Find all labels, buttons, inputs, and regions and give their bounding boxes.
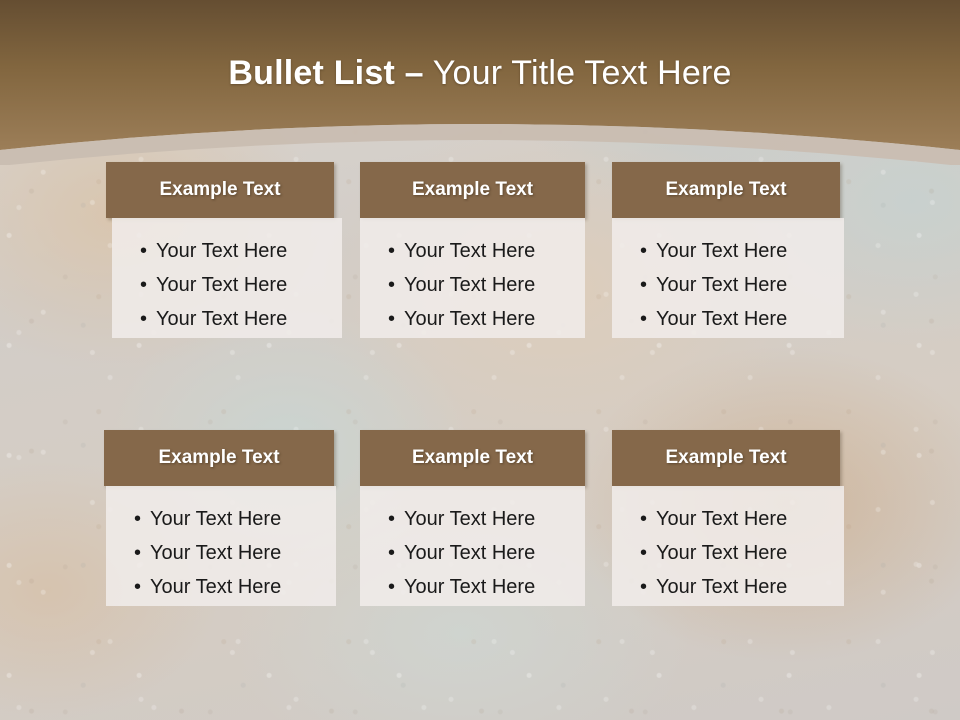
card-header-title: Example Text — [159, 179, 280, 201]
bullet-dot-icon: • — [640, 268, 656, 302]
bullet-dot-icon: • — [134, 502, 150, 536]
card-header-bar[interactable]: Example Text — [612, 162, 840, 218]
bullet-dot-icon: • — [388, 536, 404, 570]
bullet-text: Your Text Here — [404, 302, 535, 336]
bullet-dot-icon: • — [388, 570, 404, 604]
list-item: • Your Text Here — [106, 536, 336, 570]
bullet-text: Your Text Here — [656, 268, 787, 302]
list-item: • Your Text Here — [612, 502, 844, 536]
card-grid: Example Text • Your Text Here • Your Tex… — [0, 0, 960, 720]
bullet-text: Your Text Here — [656, 536, 787, 570]
bullet-dot-icon: • — [140, 302, 156, 336]
card-header-title: Example Text — [412, 447, 533, 469]
card-header-bar[interactable]: Example Text — [360, 430, 585, 486]
card-body: • Your Text Here • Your Text Here • Your… — [612, 486, 844, 606]
bullet-text: Your Text Here — [404, 268, 535, 302]
card-body: • Your Text Here • Your Text Here • Your… — [112, 218, 342, 338]
card-header-bar[interactable]: Example Text — [104, 430, 334, 486]
bullet-dot-icon: • — [388, 268, 404, 302]
presentation-slide: Bullet List – Your Title Text Here Examp… — [0, 0, 960, 720]
bullet-text: Your Text Here — [656, 234, 787, 268]
bullet-text: Your Text Here — [156, 268, 287, 302]
card-header-title: Example Text — [665, 179, 786, 201]
bullet-text: Your Text Here — [656, 502, 787, 536]
slide-title-regular: Your Title Text Here — [424, 54, 732, 92]
list-item: • Your Text Here — [106, 502, 336, 536]
list-item: • Your Text Here — [106, 570, 336, 604]
bullet-dot-icon: • — [640, 234, 656, 268]
list-item: • Your Text Here — [612, 268, 844, 302]
card-header-bar[interactable]: Example Text — [612, 430, 840, 486]
card-body: • Your Text Here • Your Text Here • Your… — [612, 218, 844, 338]
bullet-text: Your Text Here — [156, 234, 287, 268]
bullet-dot-icon: • — [640, 570, 656, 604]
bullet-dot-icon: • — [134, 570, 150, 604]
list-item: • Your Text Here — [112, 302, 342, 336]
list-item: • Your Text Here — [360, 536, 585, 570]
bullet-text: Your Text Here — [150, 536, 281, 570]
card-body: • Your Text Here • Your Text Here • Your… — [106, 486, 336, 606]
bullet-text: Your Text Here — [404, 234, 535, 268]
bullet-dot-icon: • — [388, 302, 404, 336]
card-header-title: Example Text — [412, 179, 533, 201]
card-header-bar[interactable]: Example Text — [360, 162, 585, 218]
bullet-dot-icon: • — [140, 234, 156, 268]
bullet-text: Your Text Here — [404, 502, 535, 536]
card-body: • Your Text Here • Your Text Here • Your… — [360, 218, 585, 338]
list-item: • Your Text Here — [612, 234, 844, 268]
list-item: • Your Text Here — [612, 570, 844, 604]
list-item: • Your Text Here — [360, 302, 585, 336]
card-header-title: Example Text — [158, 447, 279, 469]
list-item: • Your Text Here — [360, 234, 585, 268]
bullet-text: Your Text Here — [656, 570, 787, 604]
list-item: • Your Text Here — [360, 502, 585, 536]
bullet-dot-icon: • — [388, 502, 404, 536]
bullet-dot-icon: • — [140, 268, 156, 302]
card-header-bar[interactable]: Example Text — [106, 162, 334, 218]
bullet-text: Your Text Here — [150, 502, 281, 536]
bullet-text: Your Text Here — [156, 302, 287, 336]
list-item: • Your Text Here — [112, 268, 342, 302]
bullet-text: Your Text Here — [150, 570, 281, 604]
slide-title-bold: Bullet List – — [228, 54, 423, 92]
list-item: • Your Text Here — [360, 268, 585, 302]
bullet-text: Your Text Here — [404, 536, 535, 570]
bullet-dot-icon: • — [640, 502, 656, 536]
list-item: • Your Text Here — [360, 570, 585, 604]
card-body: • Your Text Here • Your Text Here • Your… — [360, 486, 585, 606]
bullet-text: Your Text Here — [404, 570, 535, 604]
card-header-title: Example Text — [665, 447, 786, 469]
bullet-dot-icon: • — [388, 234, 404, 268]
slide-title: Bullet List – Your Title Text Here — [0, 52, 960, 94]
bullet-text: Your Text Here — [656, 302, 787, 336]
list-item: • Your Text Here — [612, 536, 844, 570]
bullet-dot-icon: • — [640, 302, 656, 336]
bullet-dot-icon: • — [134, 536, 150, 570]
list-item: • Your Text Here — [612, 302, 844, 336]
list-item: • Your Text Here — [112, 234, 342, 268]
bullet-dot-icon: • — [640, 536, 656, 570]
